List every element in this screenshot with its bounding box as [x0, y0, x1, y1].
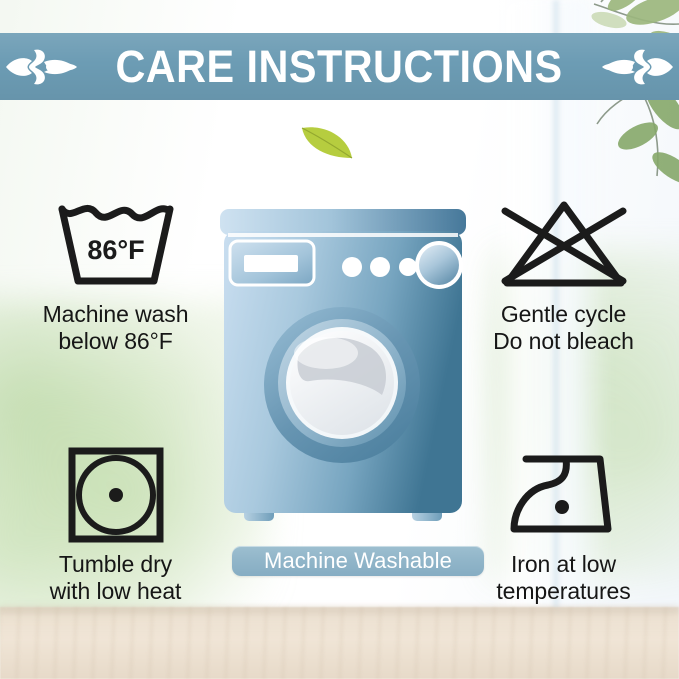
instruction-gentle-cycle: Gentle cycle Do not bleach: [456, 193, 671, 355]
instruction-iron: Iron at low temperatures: [456, 443, 671, 605]
instruction-tumble-dry: Tumble dry with low heat: [8, 443, 223, 605]
machine-control-button-3: [399, 258, 417, 276]
machine-lid-seam: [228, 233, 458, 237]
instruction-caption-machine-wash: Machine wash below 86°F: [8, 301, 223, 355]
instruction-caption-gentle-cycle: Gentle cycle Do not bleach: [456, 301, 671, 355]
machine-control-knob: [415, 241, 463, 289]
machine-control-button-1: [342, 257, 362, 277]
care-instructions-infographic: CARE INSTRUCTIONS 86°F Machine wash belo…: [0, 0, 679, 679]
floating-leaf-icon: [298, 122, 358, 162]
instruction-caption-iron: Iron at low temperatures: [456, 551, 671, 605]
wash-tub-icon: 86°F: [8, 193, 223, 297]
machine-door: [264, 307, 420, 463]
iron-low-heat-icon: [456, 443, 671, 547]
machine-door-highlight: [294, 337, 358, 369]
fleur-de-lis-icon-left: [4, 44, 78, 90]
wash-temperature-value: 86°F: [87, 235, 144, 265]
machine-control-button-2: [370, 257, 390, 277]
washing-machine-illustration: [214, 205, 472, 540]
background-table-grain: [0, 607, 679, 679]
tumble-dry-low-icon: [8, 443, 223, 547]
machine-washable-label: Machine Washable: [264, 550, 452, 572]
machine-washable-badge: Machine Washable: [232, 546, 484, 576]
do-not-bleach-triangle-icon: [456, 193, 671, 297]
instruction-machine-wash: 86°F Machine wash below 86°F: [8, 193, 223, 355]
instruction-caption-tumble-dry: Tumble dry with low heat: [8, 551, 223, 605]
fleur-de-lis-icon-right: [601, 44, 675, 90]
banner: CARE INSTRUCTIONS: [0, 33, 679, 100]
machine-detergent-drawer: [230, 241, 314, 285]
page-title: CARE INSTRUCTIONS: [116, 44, 563, 89]
